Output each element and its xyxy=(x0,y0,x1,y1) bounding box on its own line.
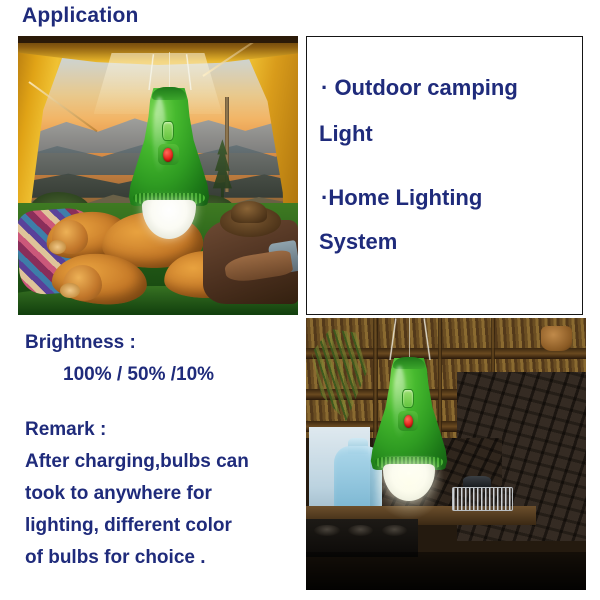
remark-line-1: After charging,bulbs can xyxy=(25,451,249,473)
brightness-values: 100% / 50% /10% xyxy=(63,364,214,386)
page-title: Application xyxy=(22,2,139,30)
infographic-page: Application xyxy=(0,0,600,600)
bullet-line-4: System xyxy=(319,229,397,255)
dish-rack xyxy=(452,487,514,511)
remark-line-3: lighting, different color xyxy=(25,515,232,537)
dog-snout xyxy=(60,283,80,298)
bullet-line-1: · Outdoor camping xyxy=(321,75,518,101)
photo-rustic-kitchen xyxy=(306,318,586,590)
stove-burner xyxy=(314,525,339,536)
stove-burner xyxy=(382,525,407,536)
led-bulb-product xyxy=(128,88,210,236)
application-bullets-panel: · Outdoor camping Light ·Home Lighting S… xyxy=(306,36,583,315)
bulb-power-button-icon xyxy=(404,415,413,428)
tent-trim xyxy=(18,36,298,43)
bulb-diffuser-dome xyxy=(383,464,434,500)
remark-line-4: of bulbs for choice . xyxy=(25,547,206,569)
bulb-indicator-window xyxy=(162,121,174,142)
stove-burner xyxy=(348,525,373,536)
dog-snout xyxy=(49,240,66,254)
brightness-label: Brightness : xyxy=(25,332,136,354)
hanging-cord xyxy=(169,52,170,90)
bulb-diffuser-dome xyxy=(142,200,196,238)
bulb-indicator-window xyxy=(402,389,414,409)
specs-panel: Brightness : 100% / 50% /10% Remark : Af… xyxy=(10,320,300,590)
bullet-line-2: Light xyxy=(319,121,373,147)
photo-camping-tent xyxy=(18,36,298,315)
bullet-line-3: ·Home Lighting xyxy=(321,185,482,211)
led-bulb-product xyxy=(370,358,448,498)
foreground-shadow xyxy=(306,552,586,590)
bulb-power-button-icon xyxy=(163,148,173,162)
hanging-cord xyxy=(409,318,410,360)
remark-label: Remark : xyxy=(25,419,106,441)
hat-crown xyxy=(231,201,267,223)
wall-hanging-pot xyxy=(541,326,572,350)
remark-line-2: took to anywhere for xyxy=(25,483,212,505)
